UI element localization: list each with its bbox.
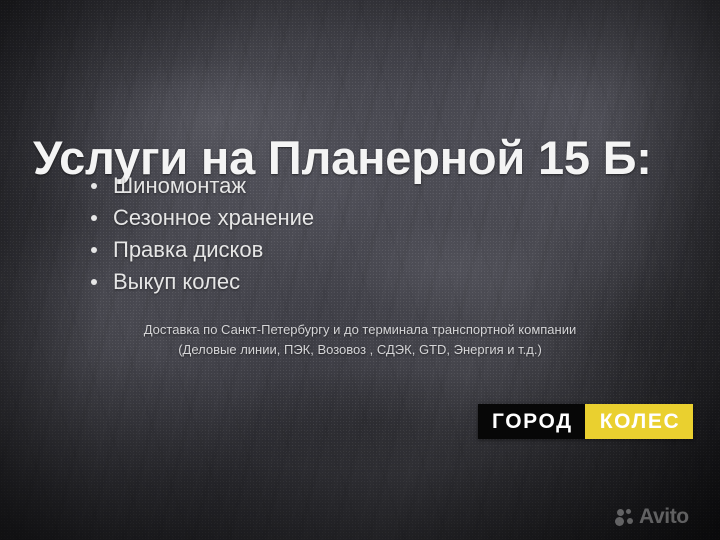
service-label: Правка дисков	[113, 237, 263, 262]
company-logo: ГОРОД КОЛЕС	[478, 404, 693, 439]
logo-word-koles: КОЛЕС	[585, 404, 694, 439]
list-item: Шиномонтаж	[88, 170, 314, 202]
list-item: Выкуп колес	[88, 266, 314, 298]
avito-watermark-label: Avito	[639, 505, 689, 529]
list-item: Сезонное хранение	[88, 202, 314, 234]
advertisement-slide: Услуги на Планерной 15 Б: Шиномонтаж Сез…	[0, 0, 720, 540]
delivery-note-line-1: Доставка по Санкт-Петербургу и до термин…	[0, 322, 720, 337]
logo-word-gorod: ГОРОД	[478, 404, 585, 439]
service-label: Сезонное хранение	[113, 205, 314, 230]
services-list: Шиномонтаж Сезонное хранение Правка диск…	[88, 170, 314, 298]
avito-logo-icon	[615, 508, 636, 527]
slide-content: Услуги на Планерной 15 Б: Шиномонтаж Сез…	[0, 0, 720, 540]
service-label: Выкуп колес	[113, 269, 240, 294]
list-item: Правка дисков	[88, 234, 314, 266]
avito-watermark: Avito	[615, 505, 689, 529]
service-label: Шиномонтаж	[113, 173, 246, 198]
delivery-note-line-2: (Деловые линии, ПЭК, Возовоз , СДЭК, GTD…	[0, 342, 720, 357]
